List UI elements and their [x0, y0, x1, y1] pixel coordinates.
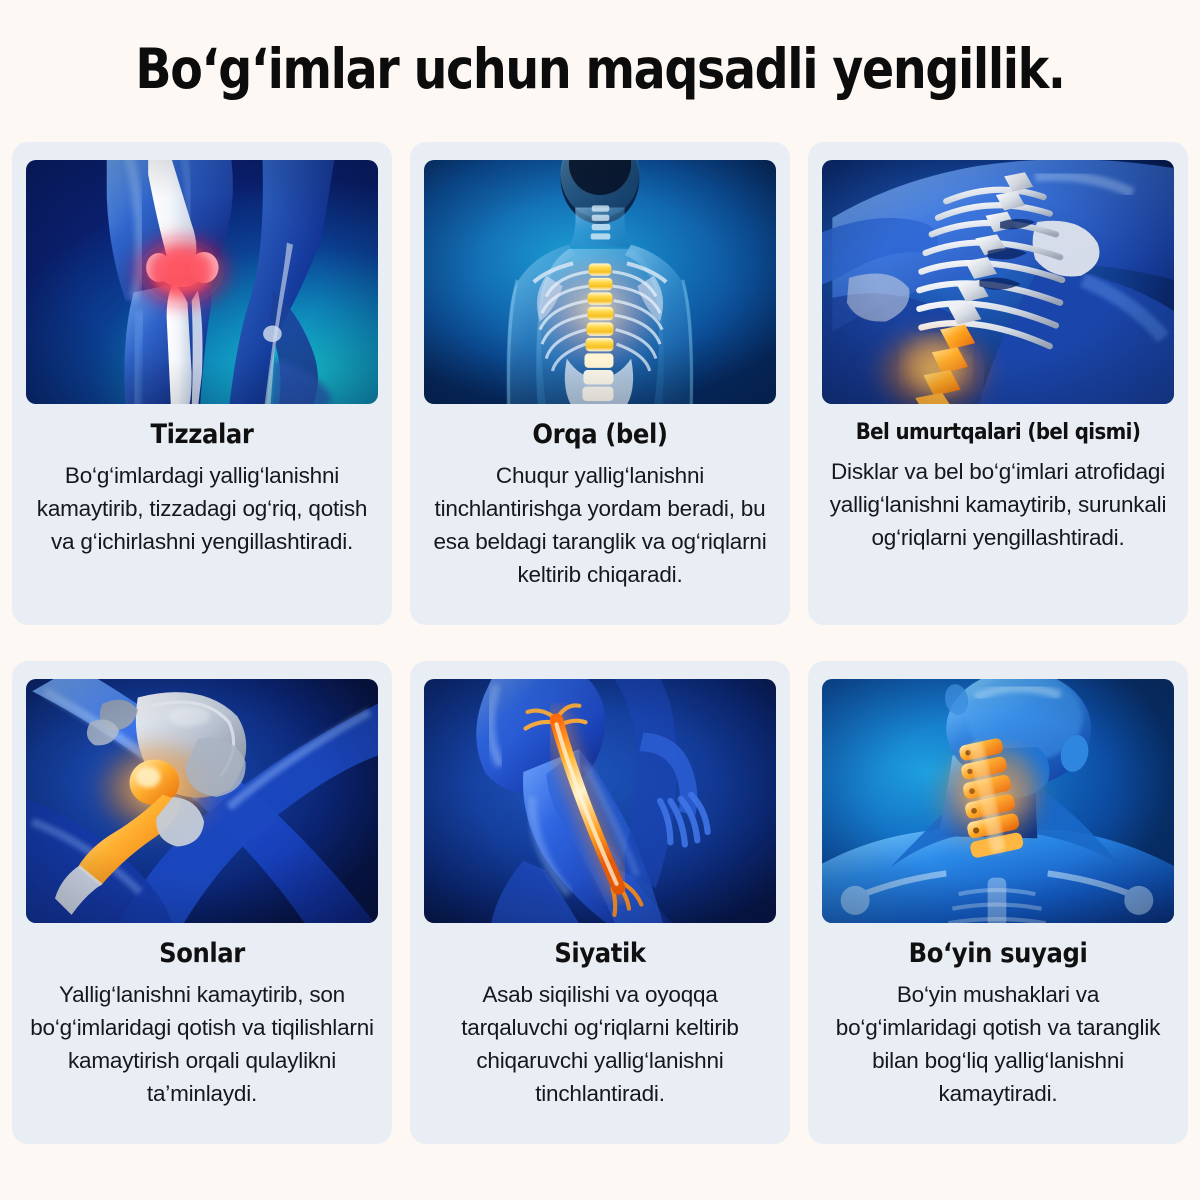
- card-title: Sonlar: [159, 938, 245, 970]
- infographic-page: Bo‘g‘imlar uchun maqsadli yengillik.: [0, 0, 1200, 1200]
- card-title: Bo‘yin suyagi: [909, 938, 1088, 970]
- knee-joint-pain-illustration: [26, 160, 378, 404]
- upper-back-spine-illustration: [424, 160, 776, 404]
- lumbar-spine-ribcage-illustration: [822, 160, 1174, 404]
- hip-illustration-svg: [26, 679, 378, 923]
- benefit-card-neck[interactable]: Bo‘yin suyagi Bo‘yin mushaklari va bo‘g‘…: [808, 661, 1188, 1144]
- card-title: Bel umurtqalari (bel qismi): [856, 419, 1141, 447]
- card-description: Yallig‘lanishni kamaytirib, son bo‘g‘iml…: [26, 978, 378, 1110]
- benefit-card-lumbar[interactable]: Bel umurtqalari (bel qismi) Disklar va b…: [808, 142, 1188, 625]
- page-title: Bo‘g‘imlar uchun maqsadli yengillik.: [24, 38, 1176, 100]
- card-title: Siyatik: [554, 938, 645, 970]
- spine-torso-illustration-svg: [424, 160, 776, 404]
- lumbar-illustration-svg: [822, 160, 1174, 404]
- card-title: Tizzalar: [150, 419, 253, 451]
- sciatic-nerve-pain-illustration: [424, 679, 776, 923]
- card-description: Chuqur yallig‘lanishni tinchlantirishga …: [424, 459, 776, 591]
- card-description: Bo‘g‘imlardagi yallig‘lanishni kamaytiri…: [26, 459, 378, 558]
- benefit-card-hips[interactable]: Sonlar Yallig‘lanishni kamaytirib, son b…: [12, 661, 392, 1144]
- sciatic-illustration-svg: [424, 679, 776, 923]
- knee-illustration-svg: [26, 160, 378, 404]
- neck-illustration-svg: [822, 679, 1174, 923]
- benefit-card-grid: Tizzalar Bo‘g‘imlardagi yallig‘lanishni …: [12, 142, 1188, 1144]
- benefit-card-knees[interactable]: Tizzalar Bo‘g‘imlardagi yallig‘lanishni …: [12, 142, 392, 625]
- card-description: Disklar va bel bo‘g‘imlari atrofidagi ya…: [822, 455, 1174, 554]
- hip-joint-pain-illustration: [26, 679, 378, 923]
- cervical-spine-neck-illustration: [822, 679, 1174, 923]
- benefit-card-back-lower[interactable]: Orqa (bel) Chuqur yallig‘lanishni tinchl…: [410, 142, 790, 625]
- card-description: Asab siqilishi va oyoqqa tarqaluvchi og‘…: [424, 978, 776, 1110]
- card-title: Orqa (bel): [532, 419, 667, 451]
- benefit-card-sciatic[interactable]: Siyatik Asab siqilishi va oyoqqa tarqalu…: [410, 661, 790, 1144]
- card-description: Bo‘yin mushaklari va bo‘g‘imlaridagi qot…: [822, 978, 1174, 1110]
